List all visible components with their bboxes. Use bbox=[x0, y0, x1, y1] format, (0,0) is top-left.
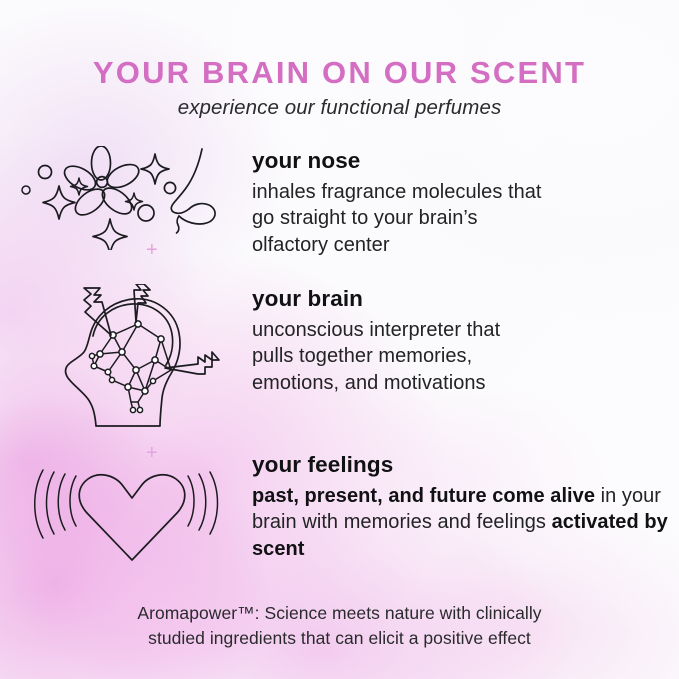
plus-separator-1: + bbox=[146, 240, 158, 260]
brain-icon-container bbox=[12, 284, 252, 434]
footer-line-1: Aromapower™: Science meets nature with c… bbox=[0, 601, 679, 626]
feelings-text: your feelings past, present, and future … bbox=[252, 446, 672, 562]
heart-pulse-icon bbox=[32, 468, 232, 572]
nose-body-line-1: inhales fragrance molecules that bbox=[252, 181, 542, 203]
page-subtitle: experience our functional perfumes bbox=[0, 98, 679, 119]
feelings-heading: your feelings bbox=[252, 452, 672, 479]
footer: Aromapower™: Science meets nature with c… bbox=[0, 601, 679, 652]
nose-body-line-3: olfactory center bbox=[252, 234, 390, 256]
infographic-canvas: YOUR BRAIN ON OUR SCENT experience our f… bbox=[0, 0, 679, 679]
brain-body: unconscious interpreter that pulls toget… bbox=[252, 317, 672, 397]
head-brain-network-icon bbox=[32, 284, 232, 434]
feelings-body: past, present, and future come alive in … bbox=[252, 483, 672, 563]
feelings-body-bold-2: alive bbox=[550, 485, 595, 507]
nose-body: inhales fragrance molecules that go stra… bbox=[252, 179, 672, 259]
section-feelings: your feelings past, present, and future … bbox=[12, 446, 672, 572]
feelings-body-bold-1: past, present, and future come bbox=[252, 485, 550, 507]
nose-icon-container bbox=[12, 146, 252, 250]
nose-heading: your nose bbox=[252, 148, 672, 175]
brain-heading: your brain bbox=[252, 286, 672, 313]
page-title: YOUR BRAIN ON OUR SCENT bbox=[0, 57, 679, 88]
nose-sparkles-flower-icon bbox=[18, 146, 246, 250]
heart-icon-container bbox=[12, 446, 252, 572]
section-brain: your brain unconscious interpreter that … bbox=[12, 284, 672, 434]
brain-body-line-1: unconscious interpreter that bbox=[252, 319, 500, 341]
brain-text: your brain unconscious interpreter that … bbox=[252, 284, 672, 396]
brain-body-line-2: pulls together memories, bbox=[252, 345, 472, 367]
nose-text: your nose inhales fragrance molecules th… bbox=[252, 146, 672, 258]
section-nose: your nose inhales fragrance molecules th… bbox=[12, 146, 672, 258]
nose-body-line-2: go straight to your brain’s bbox=[252, 207, 478, 229]
brain-body-line-3: emotions, and motivations bbox=[252, 372, 486, 394]
header: YOUR BRAIN ON OUR SCENT experience our f… bbox=[0, 57, 679, 119]
footer-line-2: studied ingredients that can elicit a po… bbox=[0, 626, 679, 651]
